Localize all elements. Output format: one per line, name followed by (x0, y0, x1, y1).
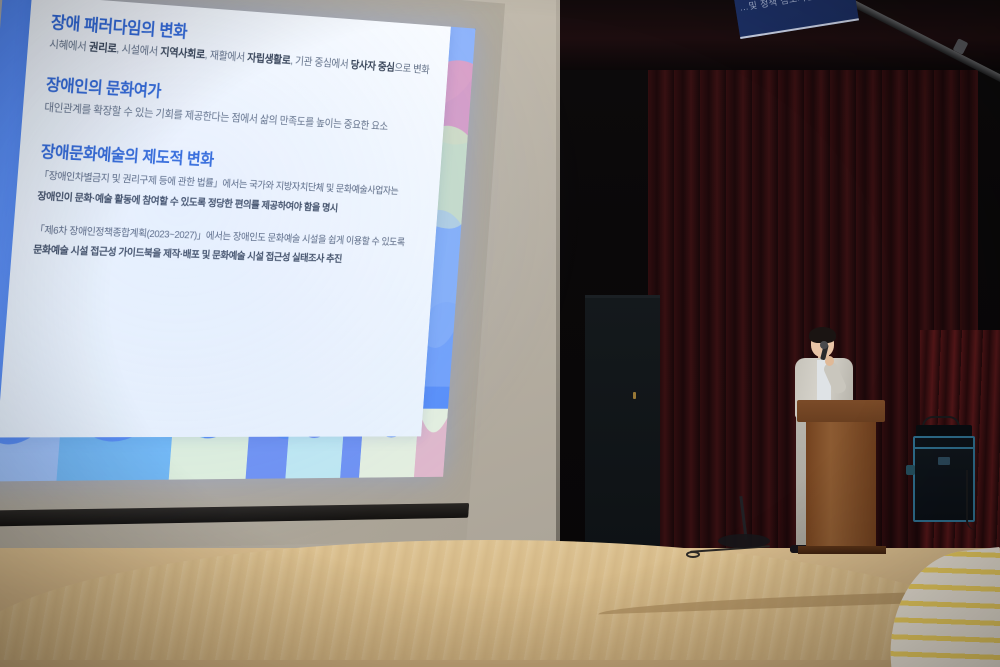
body1-part-2: , 시설에서 (116, 44, 161, 59)
slide-quote-2: 「제6차 장애인정책종합계획(2023~2027)」에서는 장애인도 문화예술 … (32, 221, 419, 272)
body1-part-5: 자립생활로 (247, 53, 291, 67)
body1-part-8: 으로 변화 (394, 63, 430, 76)
podium-base (798, 546, 886, 554)
podium-body (806, 420, 876, 550)
projection-screen: 장애 패러다임의 변화 시혜에서 권리로, 시설에서 지역사회로, 재활에서 자… (0, 0, 505, 553)
tactile-paving-stripes (880, 547, 1000, 667)
body1-part-0: 시혜에서 (49, 39, 90, 53)
tactile-paving (880, 547, 1000, 667)
slide-section-3: 장애문화예술의 제도적 변화 「장애인차별금지 및 권리구제 등에 관한 법률」… (32, 142, 424, 272)
body1-part-3: 지역사회로 (160, 47, 205, 62)
presentation-photo-scene: …및 정책 심포지엄 (0, 0, 1000, 667)
slide-section-2: 장애인의 문화여가 대인관계를 확장할 수 있는 기회를 제공한다는 점에서 삶… (44, 75, 429, 137)
body1-part-7: 당사자 중심 (350, 60, 395, 74)
slide-content-card: 장애 패러다임의 변화 시혜에서 권리로, 시설에서 지역사회로, 재활에서 자… (0, 0, 451, 437)
mic-stand-base (718, 534, 770, 548)
floor-cable-loop (686, 551, 700, 558)
slide-quote-2-line-2: 문화예술 시설 접근성 가이드북을 제작·배포 및 문화예술 시설 접근성 실태… (33, 245, 343, 265)
road-case-handle (906, 465, 915, 475)
door-knob-icon (633, 392, 636, 399)
stage-side-door (585, 295, 660, 555)
road-case-latch (938, 457, 950, 465)
presentation-slide: 장애 패러다임의 변화 시혜에서 권리로, 시설에서 지역사회로, 재활에서 자… (0, 0, 475, 482)
event-banner-text: …및 정책 심포지엄 (738, 0, 815, 14)
podium-top (797, 400, 885, 422)
body1-part-4: , 재활에서 (204, 50, 247, 64)
body1-part-1: 권리로 (89, 42, 117, 56)
slide-section-1: 장애 패러다임의 변화 시혜에서 권리로, 시설에서 지역사회로, 재활에서 자… (49, 12, 434, 79)
slide-quote-2-line-1: 「제6차 장애인정책종합계획(2023~2027)」에서는 장애인도 문화예술 … (34, 225, 405, 248)
body1-part-6: , 기관 중심에서 (290, 55, 351, 70)
speaker-hand (825, 356, 834, 366)
microphone-capsule-icon (820, 341, 828, 349)
equipment-cable-drop (966, 470, 976, 530)
slide-quote-1-line-2: 장애인이 문화·예술 활동에 참여할 수 있도록 정당한 편의를 제공하여야 함… (37, 191, 338, 214)
